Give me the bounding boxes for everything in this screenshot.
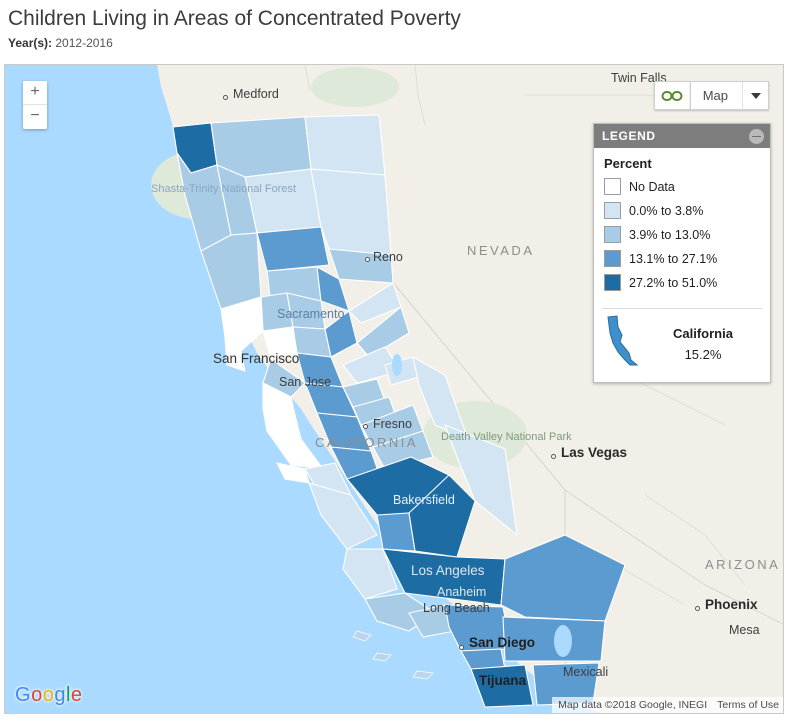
county-kings	[377, 513, 415, 551]
page-title: Children Living in Areas of Concentrated…	[8, 6, 780, 32]
legend-swatch	[604, 274, 621, 291]
logo-letter: g	[54, 684, 66, 706]
legend-panel[interactable]: LEGEND Percent No Data 0.0% to 3.8% 3.9%…	[593, 123, 771, 383]
legend-subtitle: Percent	[604, 156, 760, 171]
legend-state-name: California	[646, 326, 760, 341]
logo-letter: o	[31, 684, 43, 706]
legend-swatch	[604, 178, 621, 195]
map-type-control[interactable]: Map	[654, 81, 769, 110]
city-dot-reno	[365, 257, 370, 262]
zoom-controls[interactable]: + −	[23, 81, 47, 129]
legend-row-label: 27.2% to 51.0%	[629, 276, 717, 290]
county-shasta	[245, 169, 321, 233]
map-type-button[interactable]: Map	[690, 81, 769, 110]
page-header: Children Living in Areas of Concentrated…	[0, 0, 788, 52]
legend-row[interactable]: 13.1% to 27.1%	[604, 250, 760, 267]
map-type-label: Map	[691, 82, 742, 109]
california-outline-icon	[604, 315, 646, 372]
google-logo: Google	[15, 684, 83, 707]
county-siskiyou	[211, 117, 311, 177]
city-dot-las-vegas	[551, 454, 556, 459]
legend-state-value: 15.2%	[646, 347, 760, 362]
legend-row-label: No Data	[629, 180, 675, 194]
legend-header: LEGEND	[594, 124, 770, 148]
chevron-down-icon[interactable]	[742, 82, 768, 109]
zoom-in-button[interactable]: +	[23, 81, 47, 105]
terms-of-use-link[interactable]: Terms of Use	[717, 699, 779, 711]
chain-link-button[interactable]	[654, 81, 690, 110]
legend-state-summary: California 15.2%	[594, 309, 770, 382]
map-viewport[interactable]: NEVADA CALIFORNIA ARIZONA Medford Twin F…	[4, 64, 784, 714]
city-dot-san-diego	[459, 645, 464, 650]
logo-letter: e	[71, 684, 83, 706]
logo-letter: o	[43, 684, 55, 706]
county-riverside	[503, 617, 605, 661]
legend-swatch	[604, 202, 621, 219]
collapse-minus-icon[interactable]	[749, 129, 764, 144]
county-modoc	[305, 115, 385, 175]
years-line: Year(s): 2012-2016	[8, 36, 780, 50]
logo-letter: G	[15, 684, 31, 706]
legend-row-label: 13.1% to 27.1%	[629, 252, 717, 266]
city-dot-phoenix	[695, 606, 700, 611]
years-value: 2012-2016	[55, 36, 112, 50]
legend-row-label: 0.0% to 3.8%	[629, 204, 703, 218]
city-dot-fresno	[363, 424, 368, 429]
legend-state-info: California 15.2%	[646, 326, 760, 362]
legend-row[interactable]: No Data	[604, 178, 760, 195]
legend-row[interactable]: 0.0% to 3.8%	[604, 202, 760, 219]
chain-link-icon	[661, 90, 683, 102]
map-attribution: Map data ©2018 Google, INEGI Terms of Us…	[552, 697, 783, 713]
city-dot-medford	[223, 95, 228, 100]
county-tehama	[257, 227, 329, 271]
legend-row-label: 3.9% to 13.0%	[629, 228, 710, 242]
zoom-out-button[interactable]: −	[23, 105, 47, 129]
legend-title: LEGEND	[602, 129, 749, 143]
legend-swatch	[604, 226, 621, 243]
county-plumas	[329, 249, 393, 283]
legend-body: Percent No Data 0.0% to 3.8% 3.9% to 13.…	[594, 148, 770, 304]
legend-swatch	[604, 250, 621, 267]
legend-row[interactable]: 3.9% to 13.0%	[604, 226, 760, 243]
california-outline-svg	[604, 315, 644, 367]
attribution-text: Map data ©2018 Google, INEGI	[558, 699, 707, 711]
years-label: Year(s):	[8, 36, 52, 50]
legend-row[interactable]: 27.2% to 51.0%	[604, 274, 760, 291]
